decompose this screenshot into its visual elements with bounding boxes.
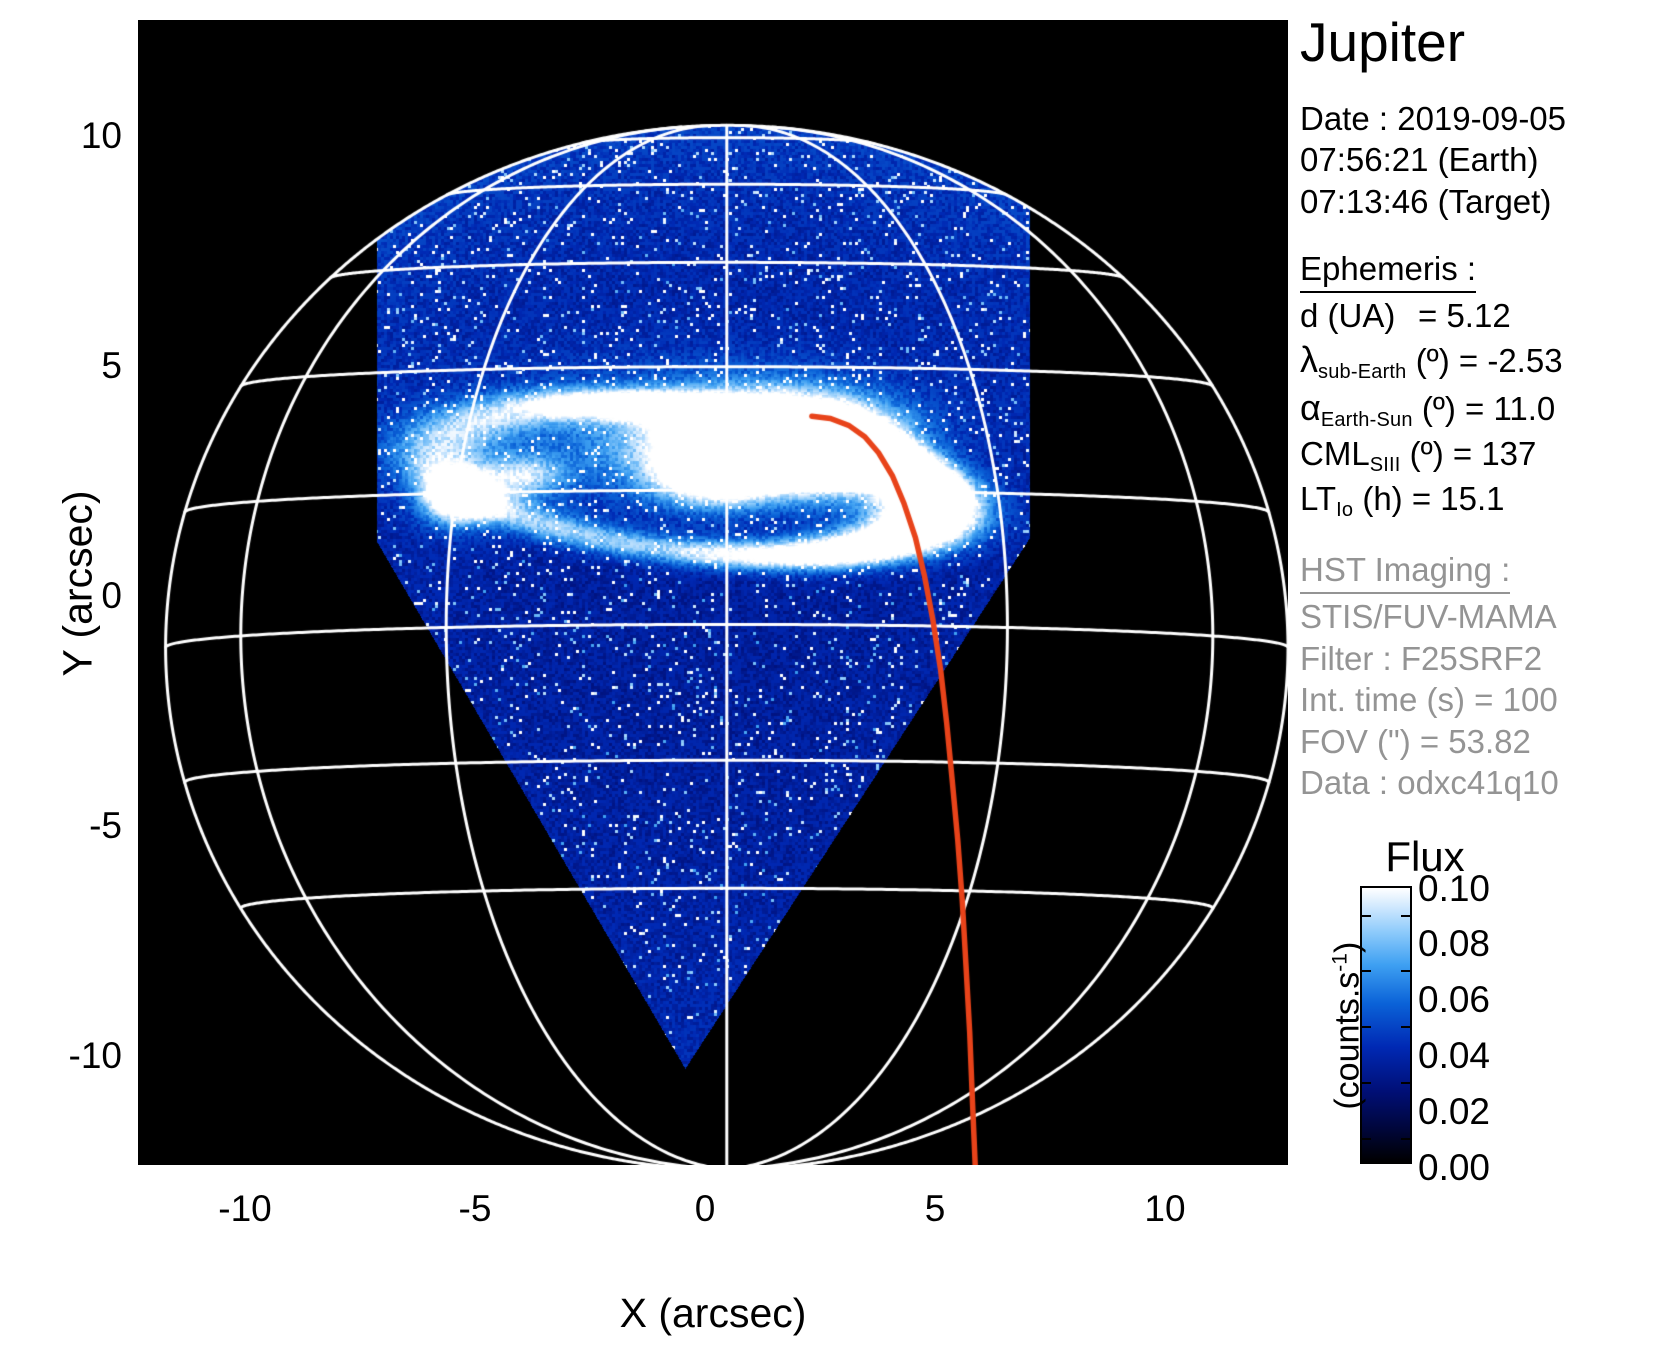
colorbar-tick-0.06: 0.06 [1418, 981, 1490, 1018]
hst-fov: FOV (") = 53.82 [1300, 721, 1676, 763]
observation-time-target: 07:13:46 (Target) [1300, 181, 1676, 223]
ephemeris-sub-earth-row: λsub-Earth (º) = -2.53 [1300, 337, 1676, 385]
colorbar-tick-0.00: 0.00 [1418, 1149, 1490, 1186]
x-tick-10: 10 [1105, 1190, 1225, 1227]
lt-unit: (h) [1362, 480, 1402, 517]
y-tick-neg10: -10 [0, 1037, 122, 1074]
alpha-value: = 11.0 [1465, 390, 1555, 427]
lambda-subscript: sub-Earth [1318, 361, 1407, 383]
lambda-symbol: λ [1300, 339, 1318, 380]
target-title: Jupiter [1300, 14, 1676, 72]
flux-colorbar-group: Flux (counts.s-1) 0.10 0.08 0.06 0.04 0.… [1300, 836, 1676, 1196]
lt-symbol: LT [1300, 480, 1336, 517]
y-axis-title: Y (arcsec) [55, 434, 102, 734]
hst-instrument: STIS/FUV-MAMA [1300, 596, 1676, 638]
observation-info-panel: Jupiter Date : 2019-09-05 07:56:21 (Eart… [1300, 14, 1676, 774]
hst-dataset-id: Data : odxc41q10 [1300, 762, 1676, 804]
hst-filter: Filter : F25SRF2 [1300, 638, 1676, 680]
hst-integration-time: Int. time (s) = 100 [1300, 679, 1676, 721]
cml-value: = 137 [1453, 435, 1537, 472]
lambda-value: = -2.53 [1459, 342, 1563, 379]
alpha-subscript: Earth-Sun [1321, 409, 1413, 431]
hst-imaging-section: HST Imaging : STIS/FUV-MAMA Filter : F25… [1300, 549, 1676, 803]
colorbar-axis-title: (counts.s-1) [1328, 886, 1367, 1166]
colorbar-tick-0.08: 0.08 [1418, 925, 1490, 962]
colorbar-axis-title-close: ) [1329, 942, 1367, 953]
x-tick-0: 0 [645, 1190, 765, 1227]
colorbar-tick-0.10: 0.10 [1418, 870, 1490, 907]
cml-unit: (º) [1410, 435, 1444, 472]
ephemeris-heading: Ephemeris : [1300, 248, 1476, 293]
x-tick-5: 5 [875, 1190, 995, 1227]
ephemeris-lt-row: LTIo (h) = 15.1 [1300, 478, 1676, 523]
y-tick-10: 10 [0, 117, 122, 154]
ephemeris-distance-value: = 5.12 [1418, 297, 1511, 334]
cml-subscript: SIII [1370, 454, 1401, 476]
observation-time-earth: 07:56:21 (Earth) [1300, 139, 1676, 181]
lambda-unit: (º) [1416, 342, 1450, 379]
lt-subscript: Io [1336, 499, 1353, 521]
colorbar-axis-exponent: -1 [1328, 953, 1351, 972]
colorbar-tick-0.02: 0.02 [1418, 1093, 1490, 1130]
observation-date: Date : 2019-09-05 [1300, 98, 1676, 140]
ephemeris-alpha-row: αEarth-Sun (º) = 11.0 [1300, 385, 1676, 433]
ephemeris-section: Ephemeris : d (UA)= 5.12 λsub-Earth (º) … [1300, 248, 1676, 523]
colorbar-axis-title-text: (counts.s [1329, 972, 1367, 1110]
ephemeris-distance-label: d (UA) [1300, 295, 1418, 337]
aurora-image-canvas [138, 20, 1288, 1165]
x-axis-title: X (arcsec) [413, 1290, 1013, 1337]
alpha-unit: (º) [1422, 390, 1456, 427]
x-tick-neg10: -10 [185, 1190, 305, 1227]
x-tick-neg5: -5 [415, 1190, 535, 1227]
ephemeris-distance-row: d (UA)= 5.12 [1300, 295, 1676, 337]
colorbar-tick-0.04: 0.04 [1418, 1037, 1490, 1074]
y-tick-neg5: -5 [0, 807, 122, 844]
hst-imaging-heading: HST Imaging : [1300, 549, 1510, 594]
aurora-image-plot [138, 20, 1288, 1165]
lt-value: = 15.1 [1412, 480, 1505, 517]
alpha-symbol: α [1300, 387, 1321, 428]
colorbar-gradient [1360, 886, 1412, 1164]
y-tick-5: 5 [0, 347, 122, 384]
ephemeris-cml-row: CMLSIII (º) = 137 [1300, 433, 1676, 478]
cml-symbol: CML [1300, 435, 1370, 472]
